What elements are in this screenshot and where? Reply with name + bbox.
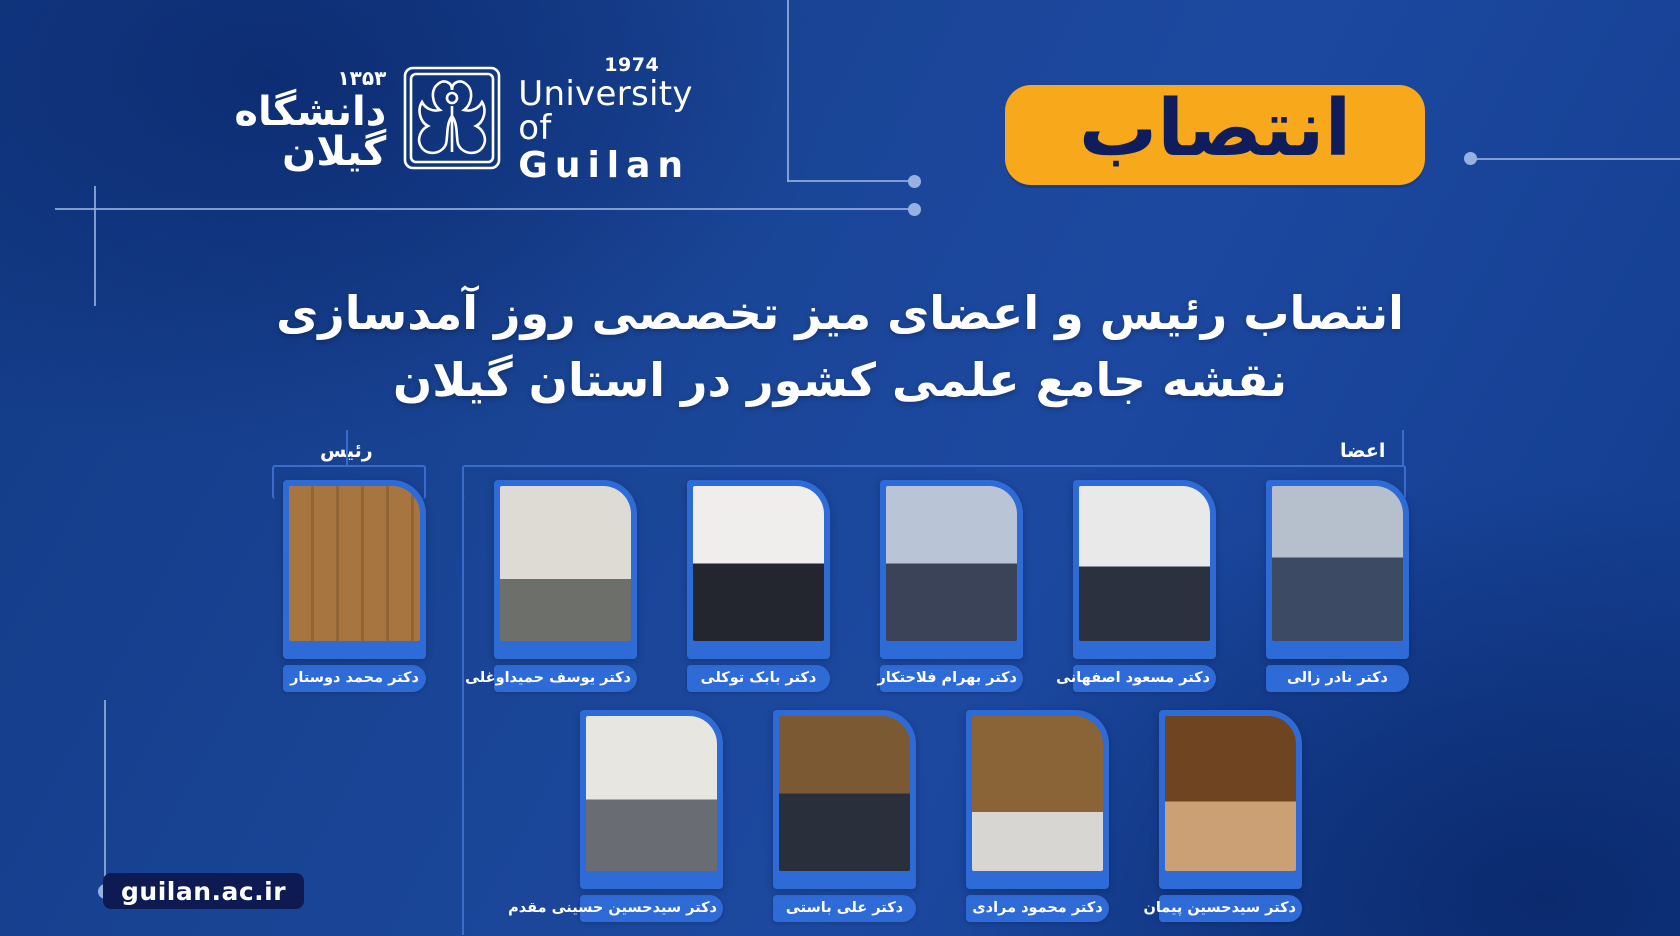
decor-line-top-vertical xyxy=(787,0,789,182)
logo-founding-year-fa: ۱۳۵۳ xyxy=(150,68,386,88)
person-name-member-5: دکتر یوسف حمیداوغلی xyxy=(494,665,637,692)
photo-mohammad-doostar xyxy=(289,486,420,641)
group-label-members: اعضا xyxy=(1340,440,1385,462)
person-photo-frame xyxy=(1266,480,1409,659)
page-title-line1: انتصاب رئیس و اعضای میز تخصصی روز آمدساز… xyxy=(276,286,1404,340)
logo-university-word: University of xyxy=(518,77,710,145)
person-name-member-8: دکتر علی باستی xyxy=(773,895,916,922)
person-card-member-7[interactable]: دکتر محمود مرادی xyxy=(966,710,1109,922)
person-name-chair: دکتر محمد دوستار xyxy=(283,665,426,692)
decor-line-top-horizontal-b xyxy=(55,208,912,210)
guilan-university-emblem-icon xyxy=(400,64,504,176)
person-photo-frame xyxy=(966,710,1109,889)
decor-line-left-vertical xyxy=(94,186,96,306)
bracket-stem-members-down xyxy=(462,495,464,935)
person-name-member-1: دکتر نادر زالی xyxy=(1266,665,1409,692)
photo-nader-zali xyxy=(1272,486,1403,641)
logo-founding-year-en: 1974 xyxy=(604,56,710,75)
photo-yousef-hamidoghli xyxy=(500,486,631,641)
person-name-member-3: دکتر بهرام فلاحتکار xyxy=(880,665,1023,692)
page-title: انتصاب رئیس و اعضای میز تخصصی روز آمدساز… xyxy=(230,280,1450,413)
decor-dot-b xyxy=(908,203,921,216)
person-card-chair[interactable]: دکتر محمد دوستار xyxy=(283,480,426,692)
photo-bahram-falahatkar xyxy=(886,486,1017,641)
person-name-member-4: دکتر بابک توکلی xyxy=(687,665,830,692)
logo-guilan-word: Guilan xyxy=(518,148,710,184)
person-photo-frame xyxy=(580,710,723,889)
person-photo-frame xyxy=(283,480,426,659)
person-card-member-9[interactable]: دکتر سیدحسین حسینی مقدم xyxy=(580,710,723,922)
photo-ali-basti xyxy=(779,716,910,871)
person-card-member-3[interactable]: دکتر بهرام فلاحتکار xyxy=(880,480,1023,692)
person-card-member-6[interactable]: دکتر سیدحسین پیمان xyxy=(1159,710,1302,922)
person-name-member-2: دکتر مسعود اصفهانی xyxy=(1073,665,1216,692)
website-url-text: guilan.ac.ir xyxy=(121,877,286,906)
person-card-member-8[interactable]: دکتر علی باستی xyxy=(773,710,916,922)
person-photo-frame xyxy=(880,480,1023,659)
poster-canvas: 1974 University of Guilan ۱۳۵۳ دانشگاه گ… xyxy=(0,0,1680,936)
logo-university-name-fa: دانشگاه گیلان xyxy=(150,92,386,172)
person-card-member-2[interactable]: دکتر مسعود اصفهانی xyxy=(1073,480,1216,692)
bracket-stem-chair xyxy=(346,430,348,466)
person-card-member-5[interactable]: دکتر یوسف حمیداوغلی xyxy=(494,480,637,692)
photo-mahmoud-moradi xyxy=(972,716,1103,871)
person-card-member-4[interactable]: دکتر بابک توکلی xyxy=(687,480,830,692)
decor-dot-a xyxy=(908,175,921,188)
decor-line-bottom-left-vertical xyxy=(104,700,106,880)
announcement-badge-label: انتصاب xyxy=(1079,90,1351,180)
person-photo-frame xyxy=(687,480,830,659)
person-photo-frame xyxy=(1073,480,1216,659)
person-card-member-1[interactable]: دکتر نادر زالی xyxy=(1266,480,1409,692)
decor-line-top-horizontal-a xyxy=(787,180,912,182)
person-name-member-9: دکتر سیدحسین حسینی مقدم xyxy=(580,895,723,922)
bracket-stem-members xyxy=(1402,430,1404,466)
person-name-member-6: دکتر سیدحسین پیمان xyxy=(1159,895,1302,922)
person-photo-frame xyxy=(494,480,637,659)
person-photo-frame xyxy=(773,710,916,889)
photo-babak-tavakoli xyxy=(693,486,824,641)
page-title-line2: نقشه جامع علمی کشور در استان گیلان xyxy=(230,347,1450,414)
person-photo-frame xyxy=(1159,710,1302,889)
decor-line-right-horizontal xyxy=(1472,158,1680,160)
person-name-member-7: دکتر محمود مرادی xyxy=(966,895,1109,922)
university-logo: 1974 University of Guilan ۱۳۵۳ دانشگاه گ… xyxy=(150,60,710,180)
decor-dot-c xyxy=(1464,152,1477,165)
photo-seyed-hossein-peyman xyxy=(1165,716,1296,871)
announcement-badge: انتصاب xyxy=(1005,85,1425,185)
website-url-badge[interactable]: guilan.ac.ir xyxy=(103,873,304,909)
logo-persian-text: ۱۳۵۳ دانشگاه گیلان xyxy=(150,68,386,172)
logo-english-text: 1974 University of Guilan xyxy=(518,56,710,184)
photo-seyed-hossein-hosseini-moghaddam xyxy=(586,716,717,871)
photo-masoud-esfahani xyxy=(1079,486,1210,641)
